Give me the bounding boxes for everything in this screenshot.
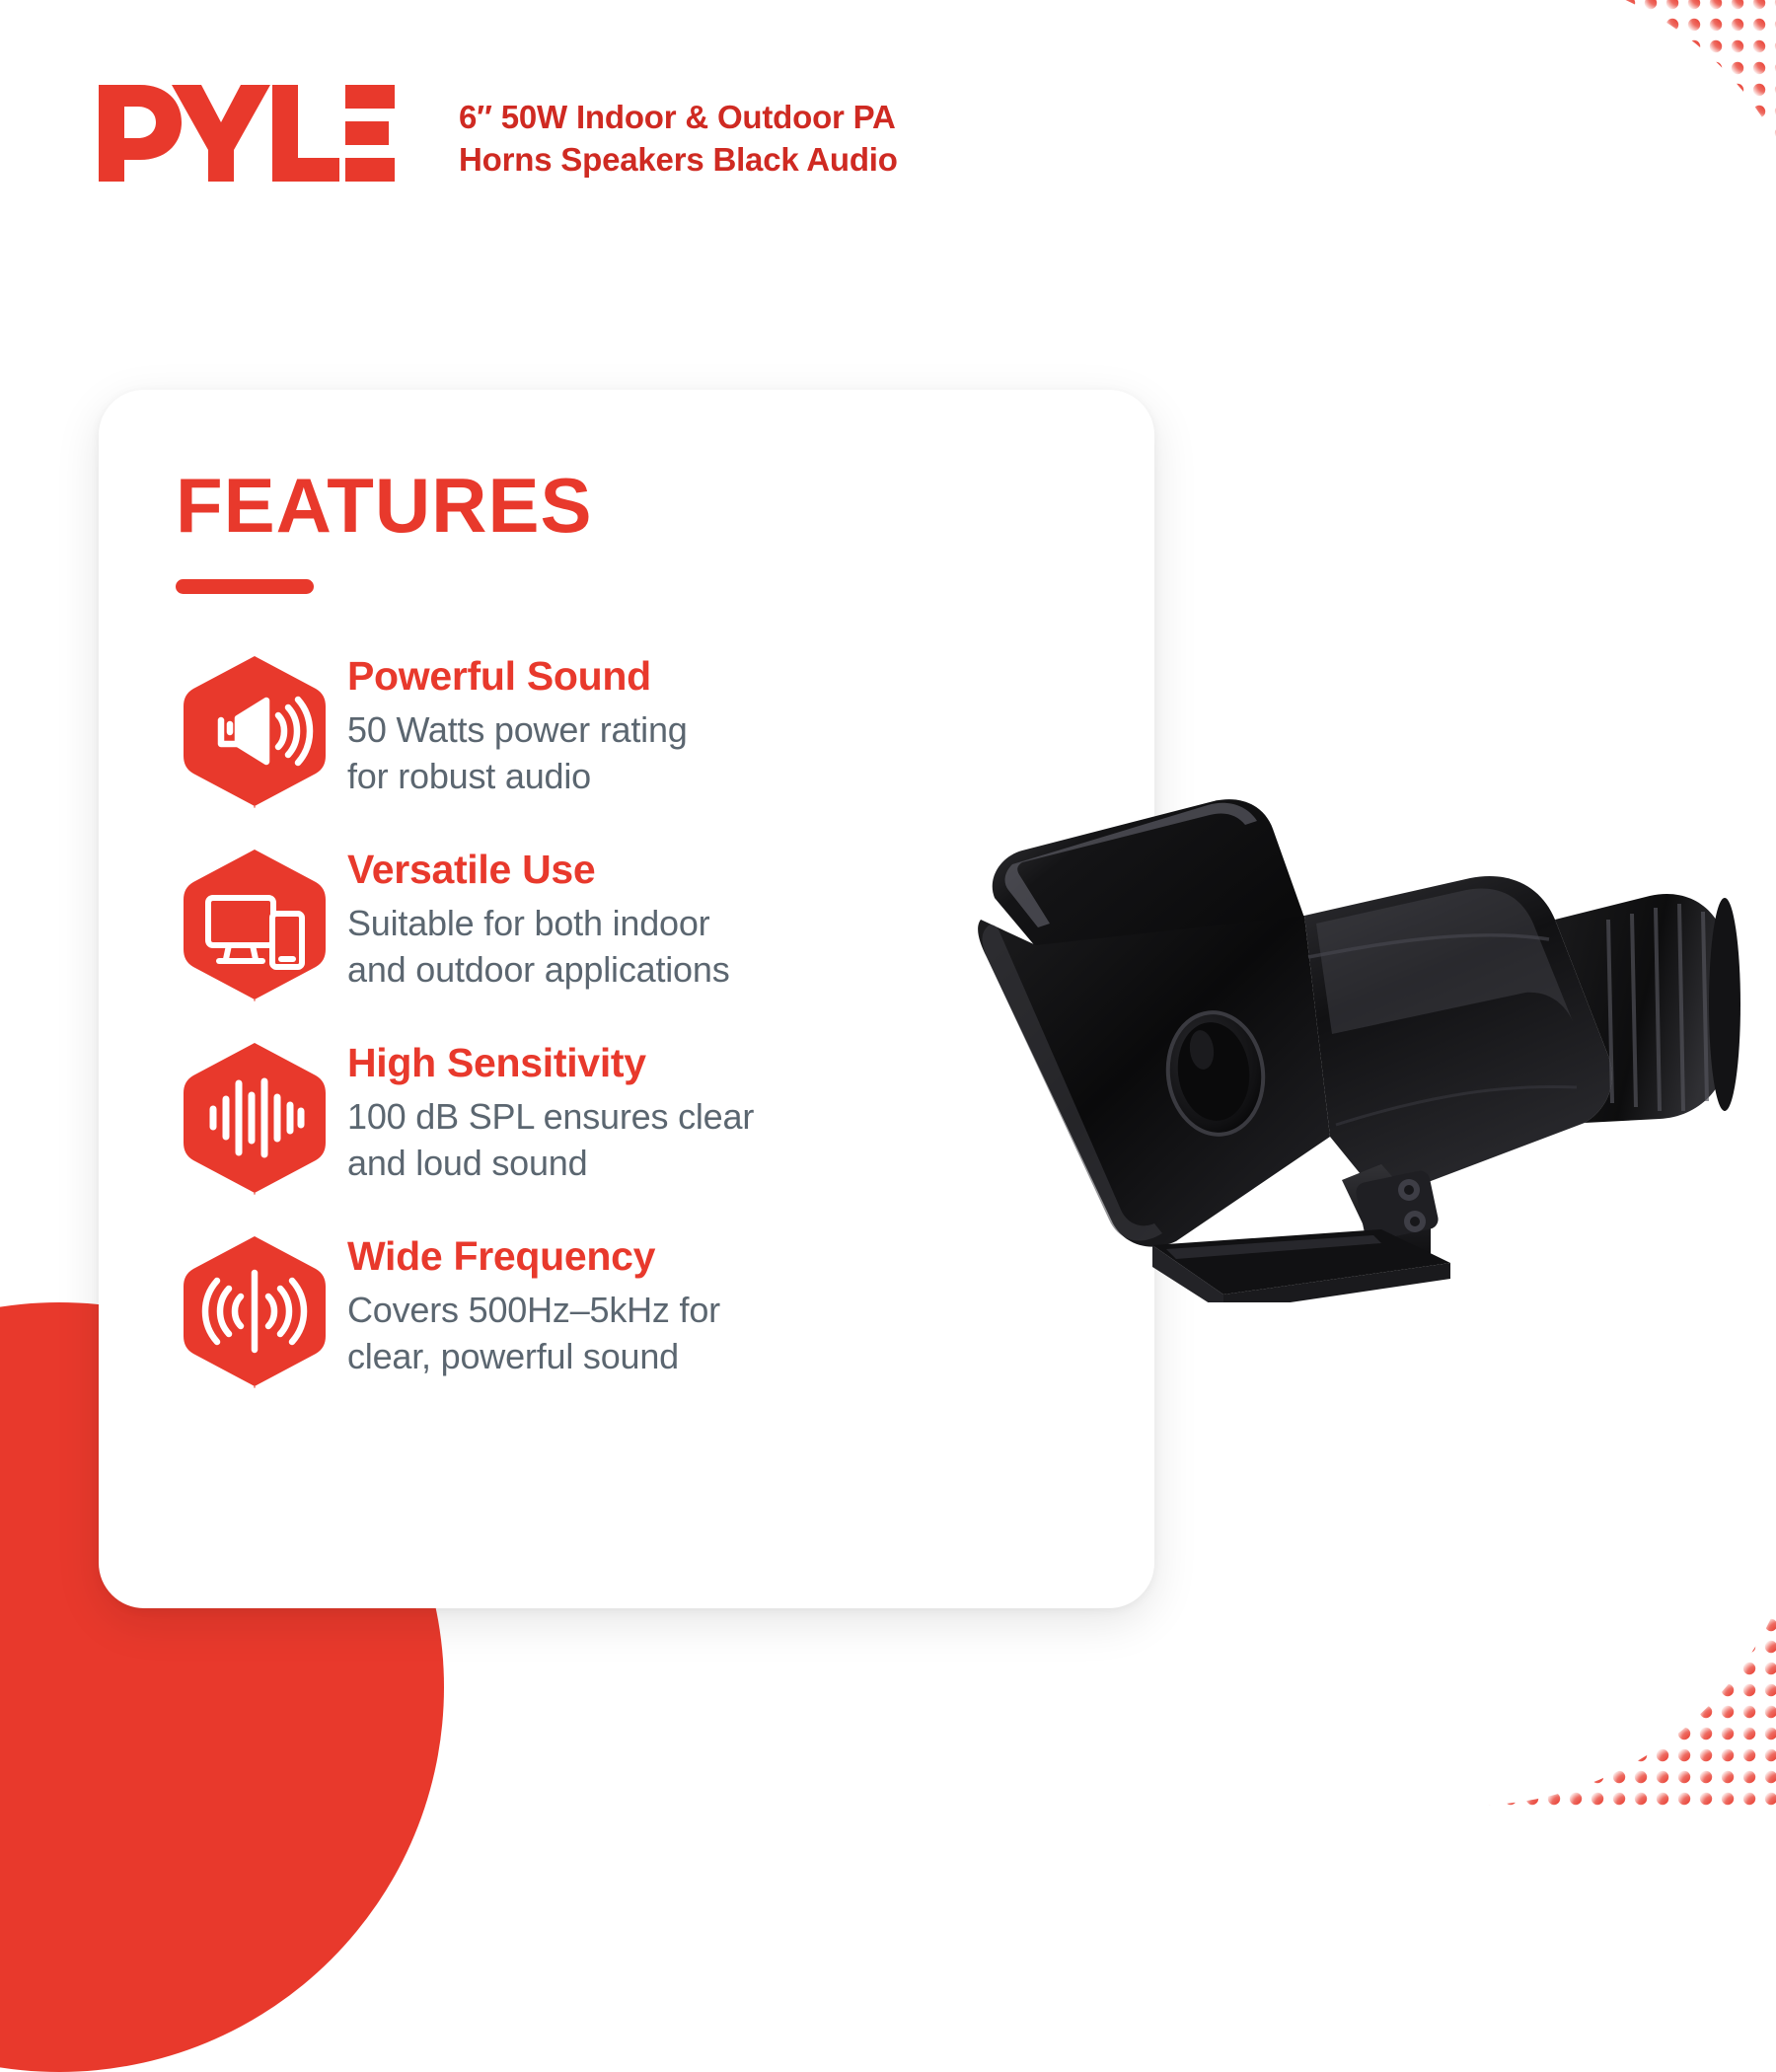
- feature-description: Suitable for both indoor and outdoor app…: [347, 901, 730, 994]
- feature-desc-line-1: Suitable for both indoor: [347, 903, 709, 943]
- feature-text-block: High Sensitivity 100 dB SPL ensures clea…: [333, 1030, 754, 1187]
- feature-description: Covers 500Hz–5kHz for clear, powerful so…: [347, 1288, 720, 1380]
- sound-wave-bidirectional-icon: [182, 1233, 328, 1389]
- feature-description: 100 dB SPL ensures clear and loud sound: [347, 1094, 754, 1187]
- product-title-line-2: Horns Speakers Black Audio: [459, 139, 898, 182]
- feature-title: Wide Frequency: [347, 1235, 720, 1278]
- feature-title: High Sensitivity: [347, 1042, 754, 1084]
- megaphone-speaker-icon: [182, 653, 328, 809]
- feature-desc-line-2: and loud sound: [347, 1143, 587, 1183]
- features-heading: FEATURES: [176, 467, 1154, 544]
- feature-desc-line-2: for robust audio: [347, 756, 591, 796]
- feature-desc-line-1: Covers 500Hz–5kHz for: [347, 1290, 720, 1330]
- feature-desc-line-1: 50 Watts power rating: [347, 709, 688, 750]
- feature-desc-line-1: 100 dB SPL ensures clear: [347, 1096, 754, 1137]
- audio-waveform-icon: [182, 1040, 328, 1196]
- feature-description: 50 Watts power rating for robust audio: [347, 707, 688, 800]
- feature-desc-line-2: clear, powerful sound: [347, 1336, 679, 1376]
- devices-monitor-phone-icon: [182, 847, 328, 1002]
- product-title-line-1: 6″ 50W Indoor & Outdoor PA: [459, 97, 898, 139]
- feature-icon-container: [176, 643, 333, 809]
- halftone-dots-top-right: [1401, 0, 1776, 296]
- feature-text-block: Wide Frequency Covers 500Hz–5kHz for cle…: [333, 1223, 720, 1380]
- feature-title: Versatile Use: [347, 849, 730, 891]
- features-heading-underline: [176, 579, 314, 594]
- feature-icon-container: [176, 1223, 333, 1389]
- feature-text-block: Versatile Use Suitable for both indoor a…: [333, 837, 730, 994]
- product-title: 6″ 50W Indoor & Outdoor PA Horns Speaker…: [459, 97, 898, 182]
- feature-desc-line-2: and outdoor applications: [347, 949, 730, 990]
- feature-text-block: Powerful Sound 50 Watts power rating for…: [333, 643, 688, 800]
- header: 6″ 50W Indoor & Outdoor PA Horns Speaker…: [99, 79, 898, 187]
- product-photo-pa-horn-speaker: [918, 631, 1746, 1302]
- feature-title: Powerful Sound: [347, 655, 688, 698]
- halftone-dots-bottom-right: [1391, 1441, 1776, 1806]
- feature-icon-container: [176, 1030, 333, 1196]
- feature-icon-container: [176, 837, 333, 1002]
- pyle-logo: [99, 79, 395, 187]
